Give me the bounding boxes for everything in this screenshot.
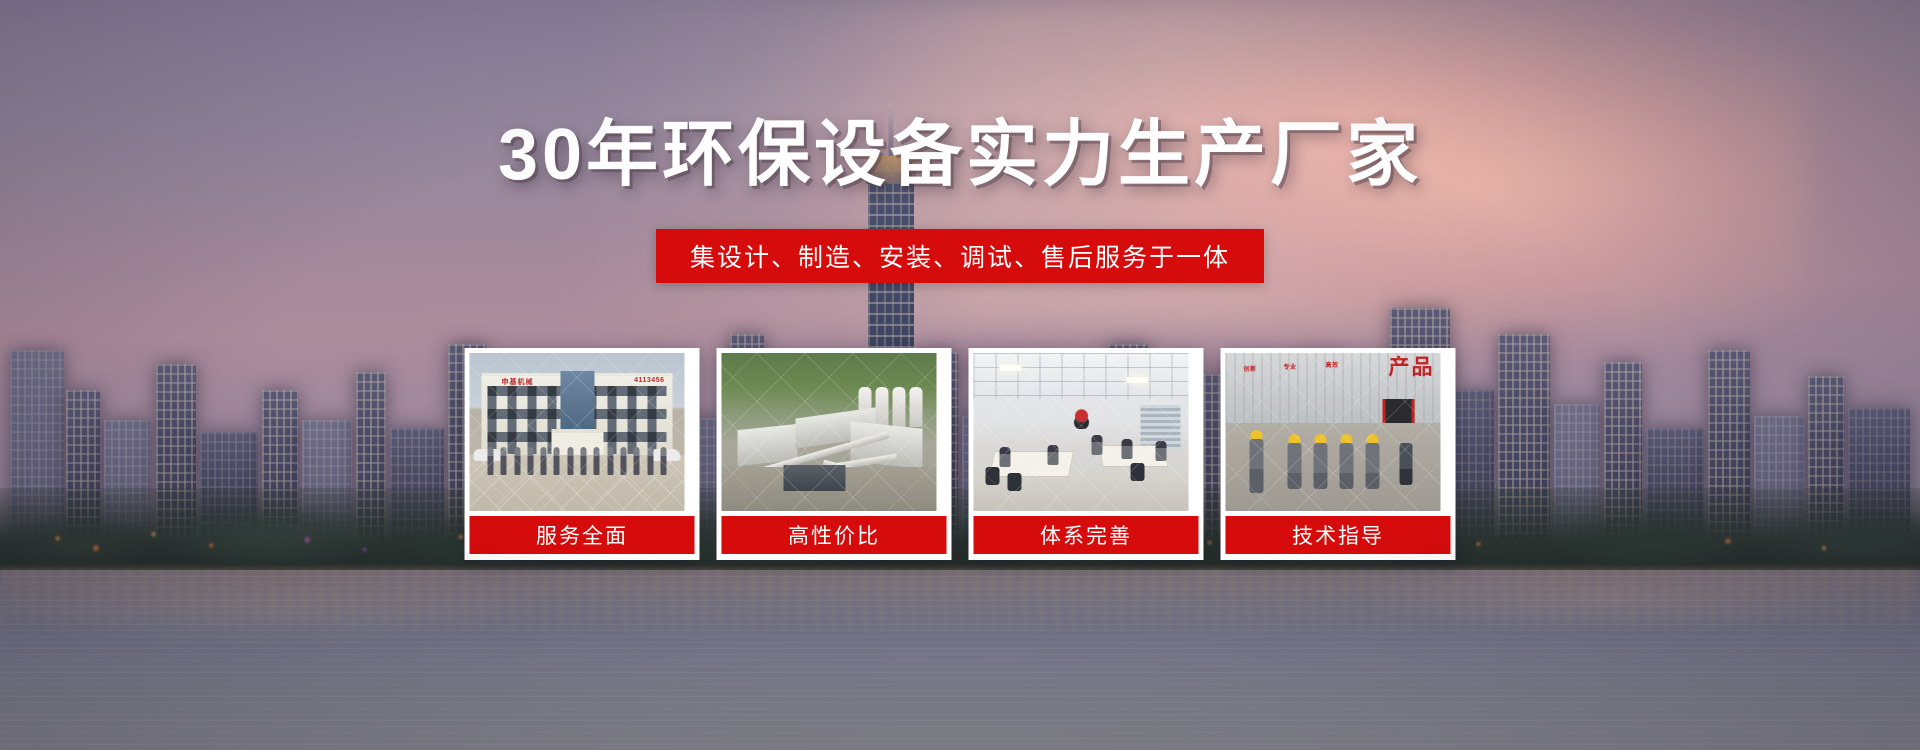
feature-card-label: 技术指导 [1226, 516, 1451, 554]
building-phone-text: 4113456 [634, 377, 664, 384]
banner-content: 30年环保设备实力生产厂家 集设计、制造、安装、调试、售后服务于一体 申基机械 … [0, 0, 1920, 750]
feature-card[interactable]: 申基机械 4113456 服务全面 [465, 348, 700, 560]
banner-subtitle-bar: 集设计、制造、安装、调试、售后服务于一体 [656, 229, 1264, 283]
building-sign-text: 申基机械 [502, 377, 534, 387]
feature-card-label: 体系完善 [974, 516, 1199, 554]
factory-workers-hardhats-photo: 创新 专业 高效 产品 [1226, 353, 1441, 511]
feature-card-label: 服务全面 [470, 516, 695, 554]
factory-slogan-3: 高效 [1326, 363, 1339, 371]
feature-card[interactable]: 创新 专业 高效 产品 技术指导 [1221, 348, 1456, 560]
aerial-industrial-plant-photo [722, 353, 937, 511]
factory-slogan-2: 专业 [1284, 365, 1297, 373]
office-interior-staff-photo [974, 353, 1189, 511]
feature-card-label: 高性价比 [722, 516, 947, 554]
feature-card[interactable]: 体系完善 [969, 348, 1204, 560]
feature-card-list: 申基机械 4113456 服务全面 [465, 348, 1456, 560]
feature-card[interactable]: 高性价比 [717, 348, 952, 560]
factory-sign-text: 产品 [1389, 357, 1435, 378]
company-building-staff-photo: 申基机械 4113456 [470, 353, 685, 511]
banner-headline: 30年环保设备实力生产厂家 [0, 95, 1920, 200]
hero-banner: 30年环保设备实力生产厂家 集设计、制造、安装、调试、售后服务于一体 申基机械 … [0, 0, 1920, 750]
factory-slogan-1: 创新 [1244, 367, 1257, 375]
